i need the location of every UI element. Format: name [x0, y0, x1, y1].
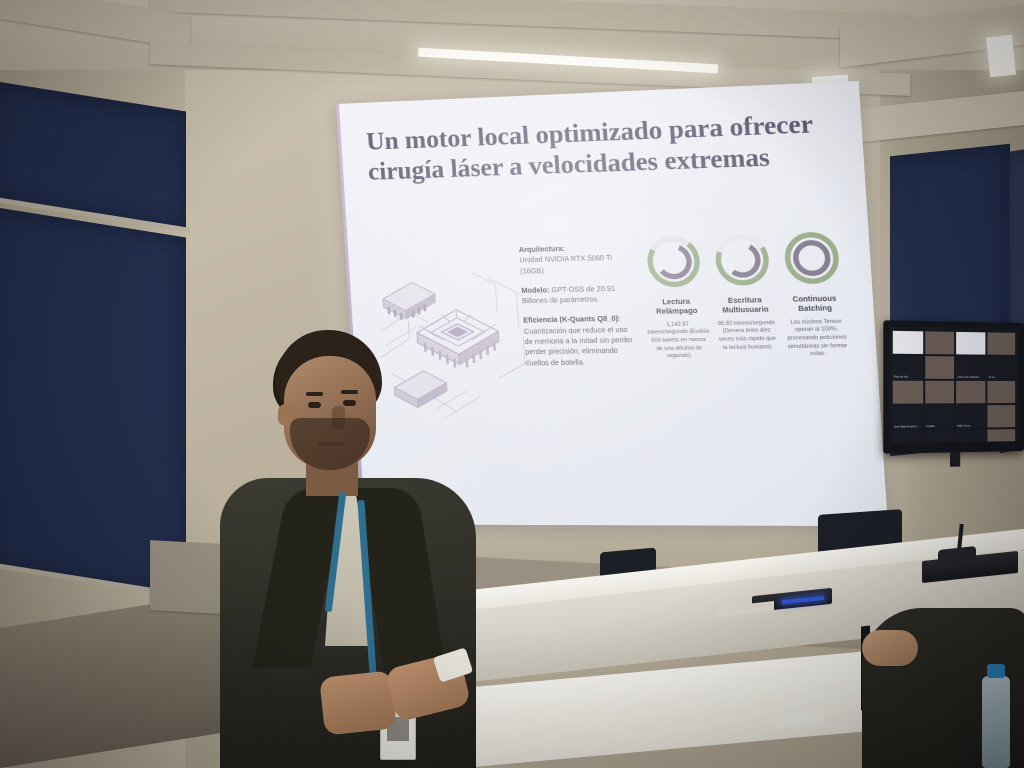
vc-tile[interactable]	[987, 429, 1015, 443]
spec-modelo: Modelo: GPT-OSS de 20.91 Billones de par…	[521, 283, 635, 307]
monitor-stand	[950, 452, 960, 467]
spec-eficiencia: Eficiencia (K-Quants Q8_0): Cuantización…	[523, 314, 639, 369]
wall-display[interactable]: Pilar de Ant... José Luis Vázquez Dir. l…	[883, 320, 1024, 453]
vc-tile[interactable]: Amable	[925, 405, 954, 428]
vc-participant-name: José Luis Vázquez	[957, 376, 979, 379]
metric-lectura-relampago: Lectura Relámpago 1,142.87 tokens/segund…	[639, 234, 713, 362]
bottle-cap	[987, 664, 1005, 678]
vc-participant-name: Willy Torres	[957, 425, 971, 428]
spec-label: Modelo:	[521, 286, 550, 295]
presenter	[214, 330, 494, 768]
acoustic-panel-left-lower	[0, 206, 186, 597]
slide-metrics: Lectura Relámpago 1,142.87 tokens/segund…	[639, 230, 846, 236]
vc-tile[interactable]: Crowdstream	[893, 430, 923, 443]
metric-desc: Los núcleos Tensor operan al 100%, proce…	[782, 318, 853, 360]
metric-desc: 96.82 tokens/segundo (Genera texto diez …	[713, 320, 782, 353]
vc-participant-name: Dir. la...	[988, 376, 997, 379]
vc-participant-name: Pilar de Ant...	[894, 376, 910, 379]
metric-title: Escritura Multiusuario	[711, 295, 779, 316]
vc-tile[interactable]: Pilar de Ant...	[893, 356, 923, 379]
monitor-screen: Pilar de Ant... José Luis Vázquez Dir. l…	[890, 327, 1019, 444]
vc-tile[interactable]: José Luis Vázquez	[956, 356, 985, 379]
vc-tile[interactable]: Esteban Vega	[925, 430, 954, 443]
metric-title: Continuous Batching	[780, 293, 849, 314]
spec-label: Arquitectura:	[519, 245, 566, 254]
metric-escritura-multiusuario: Escritura Multiusuario 96.82 tokens/segu…	[707, 232, 782, 353]
attendee-hand	[862, 630, 918, 666]
vc-tile[interactable]	[956, 381, 985, 403]
metric-desc: 1,142.87 tokens/segundo (Evalúa 500 twee…	[645, 321, 714, 362]
vc-participant-name: Juan Manuel Iglesi...	[894, 425, 919, 428]
vc-tile[interactable]	[893, 331, 923, 354]
metric-title: Lectura Relámpago	[643, 296, 710, 317]
presenter-left-hand	[319, 670, 397, 735]
donut-rings-icon	[782, 230, 843, 286]
presentation-room-photo: Un motor local optimizado para ofrecer c…	[0, 0, 1024, 768]
metric-continuous-batching: Continuous Batching Los núcleos Tensor o…	[776, 230, 852, 360]
spec-label: Eficiencia (K-Quants Q8_0):	[523, 315, 621, 325]
vc-tile[interactable]	[925, 356, 954, 379]
slide-title: Un motor local optimizado para ofrecer c…	[365, 108, 829, 187]
donut-chart	[712, 232, 772, 288]
spec-value: Unidad NVIDIA RTX 5060 Ti (16GB)	[519, 254, 612, 275]
donut-rings-icon	[644, 234, 703, 289]
spec-value: Cuantización que reduce el uso de memori…	[524, 325, 633, 367]
video-call-gallery: Pilar de Ant... José Luis Vázquez Dir. l…	[893, 331, 1015, 440]
vc-tile[interactable]	[893, 381, 923, 404]
vc-tile[interactable]	[987, 405, 1015, 427]
slide-spec-column: Arquitectura: Unidad NVIDIA RTX 5060 Ti …	[518, 242, 639, 378]
ceiling-light	[986, 35, 1016, 77]
presenter-eye	[343, 400, 356, 406]
vc-participant-name: Amable	[926, 425, 935, 428]
vc-tile[interactable]: Marco de Susana...	[956, 429, 985, 443]
donut-chart	[644, 234, 703, 289]
presenter-eyebrow	[341, 390, 358, 394]
presenter-eye	[308, 402, 321, 408]
spec-arquitectura: Arquitectura: Unidad NVIDIA RTX 5060 Ti …	[518, 242, 632, 277]
vc-tile[interactable]: Dir. la...	[987, 357, 1015, 379]
vc-tile[interactable]	[925, 381, 954, 404]
vc-tile[interactable]	[987, 332, 1015, 355]
vc-tile[interactable]: Willy Torres	[956, 405, 985, 428]
donut-rings-icon	[712, 232, 772, 288]
presenter-mouth	[318, 442, 344, 446]
vc-tile[interactable]	[956, 332, 985, 355]
donut-chart	[782, 230, 843, 286]
vc-tile[interactable]	[987, 381, 1015, 403]
water-bottle[interactable]	[982, 676, 1010, 768]
vc-tile[interactable]: Juan Manuel Iglesi...	[893, 406, 923, 429]
vc-tile[interactable]	[925, 331, 954, 354]
presenter-eyebrow	[306, 392, 323, 396]
